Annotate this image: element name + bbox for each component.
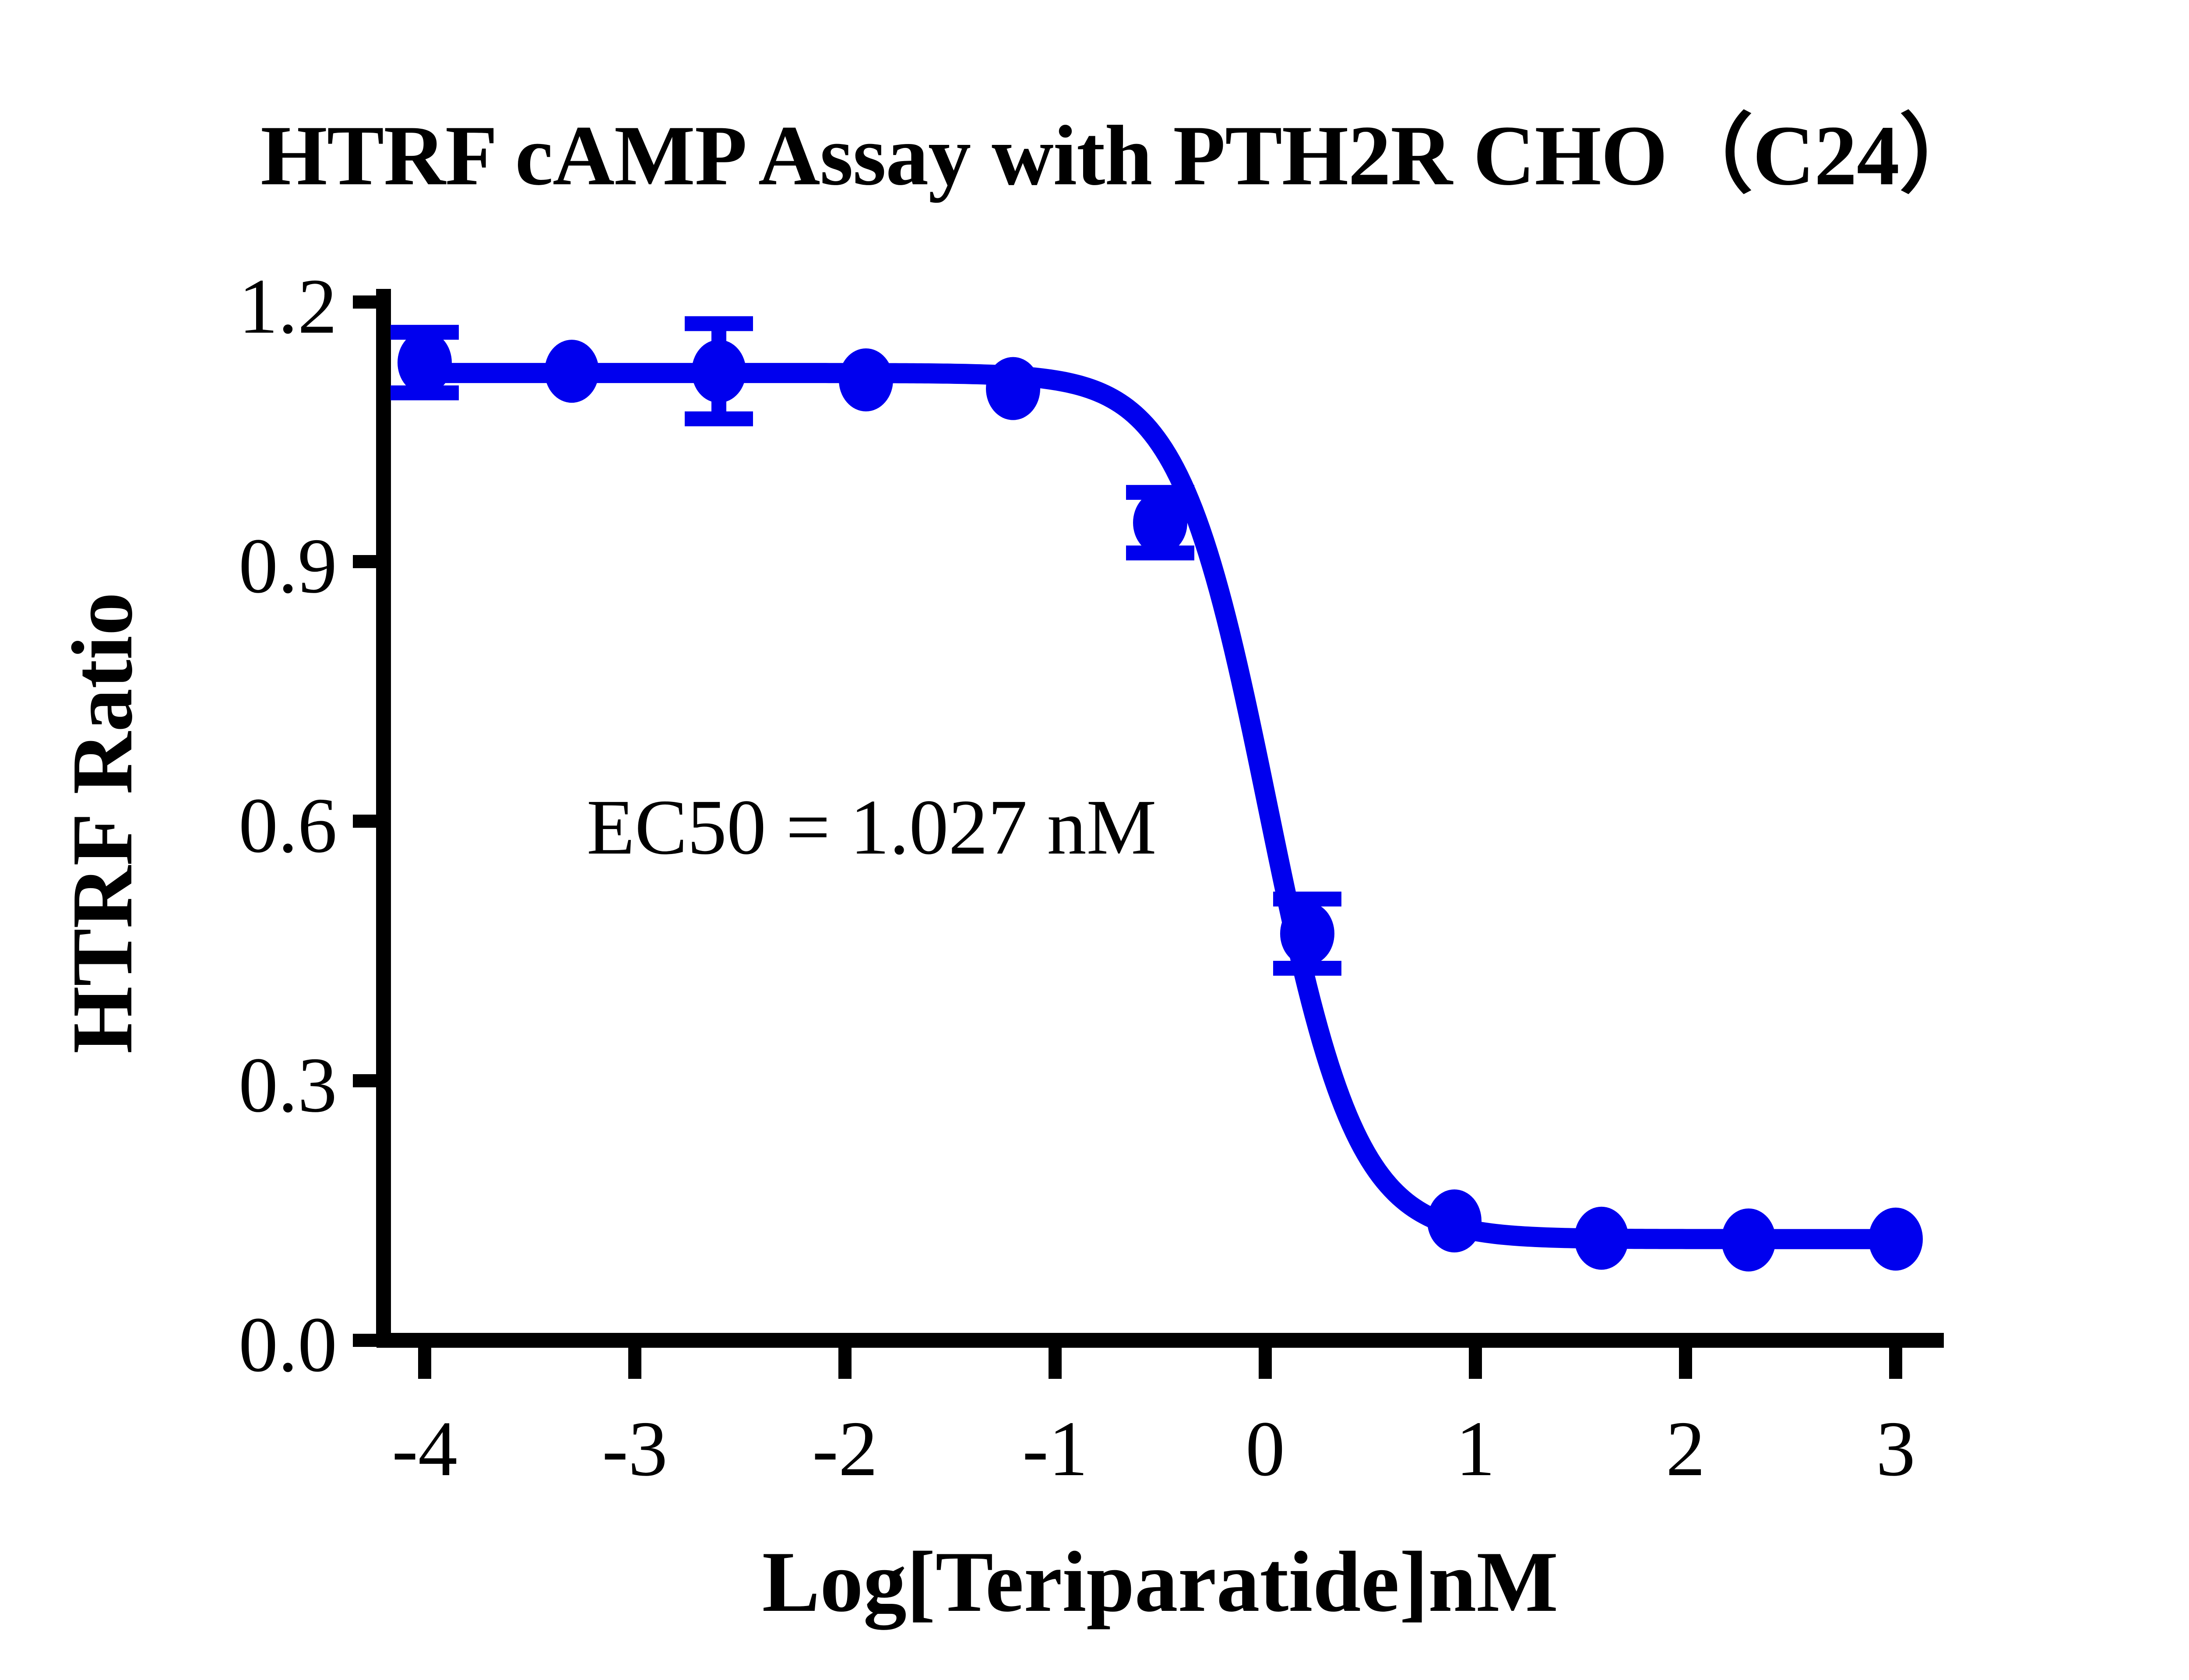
ec50-annotation: EC50 = 1.027 nM (587, 784, 1157, 871)
y-axis-title: HTRF Ratio (54, 592, 150, 1054)
x-tick-label-0: 0 (1246, 1405, 1285, 1492)
x-axis-title: Log[Teriparatide]nM (762, 1534, 1559, 1630)
data-point (1574, 1207, 1629, 1270)
data-point (986, 357, 1040, 420)
data-point (398, 331, 452, 394)
x-tick-label-1: 1 (1456, 1405, 1495, 1492)
error-bars (391, 323, 1341, 968)
y-tick-label-0p9: 0.9 (239, 522, 337, 609)
x-tick-label-m1: -1 (1022, 1405, 1088, 1492)
plot-area: 1.2 0.9 0.6 0.3 0.0 -4 -3 -2 -1 0 1 2 3 (0, 0, 2189, 1680)
x-tick-label-2: 2 (1666, 1405, 1705, 1492)
data-point (1869, 1208, 1923, 1271)
x-tick-label-m4: -4 (392, 1405, 458, 1492)
data-point (545, 340, 599, 403)
data-point (1280, 902, 1334, 965)
data-point (692, 340, 746, 403)
y-tick-label-0p6: 0.6 (239, 782, 337, 869)
x-tick-label-3: 3 (1876, 1405, 1915, 1492)
x-tick-label-m3: -3 (602, 1405, 668, 1492)
x-tick-labels: -4 -3 -2 -1 0 1 2 3 (392, 1405, 1915, 1492)
data-point (1721, 1209, 1776, 1272)
data-point (1427, 1189, 1482, 1252)
data-point (839, 348, 893, 411)
x-tick-label-m2: -2 (812, 1405, 878, 1492)
y-tick-label-1p2: 1.2 (239, 263, 337, 350)
figure-canvas: HTRF cAMP Assay with PTH2R CHO（C24） 1.2 … (0, 0, 2189, 1680)
y-tick-label-0p0: 0.0 (239, 1301, 337, 1388)
data-point (1133, 491, 1187, 554)
y-tick-label-0p3: 0.3 (239, 1041, 337, 1128)
y-tick-labels: 1.2 0.9 0.6 0.3 0.0 (239, 263, 337, 1388)
